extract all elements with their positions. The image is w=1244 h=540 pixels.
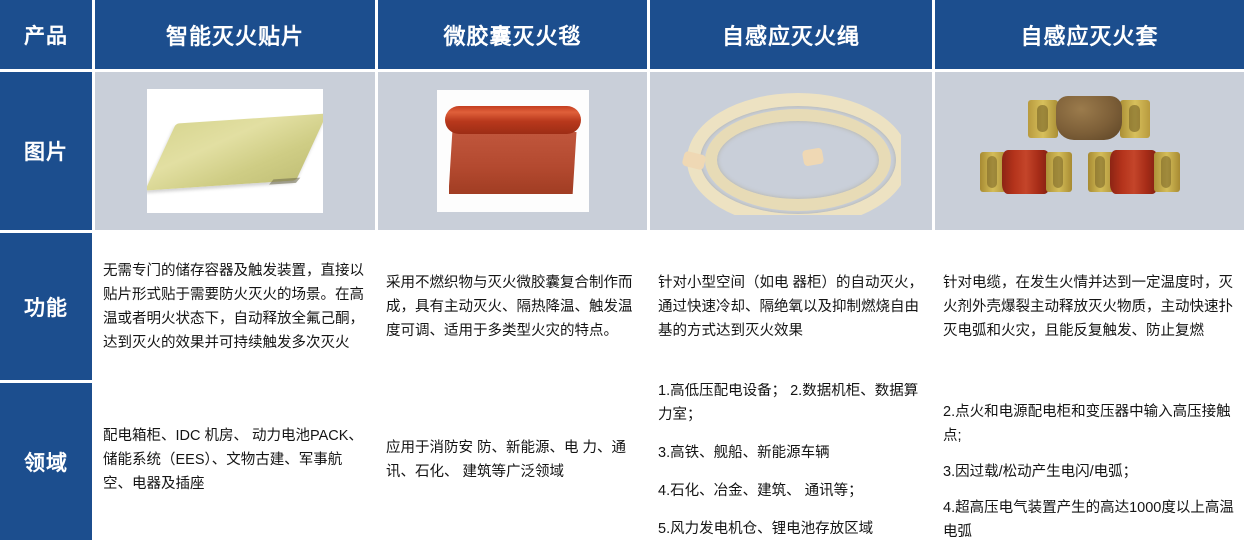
- rope-end-right: [802, 147, 824, 166]
- list-item: 4.石化、冶金、建筑、 通讯等；: [658, 479, 924, 503]
- list-item: 1.高低压配电设备； 2.数据机柜、数据算力室；: [658, 383, 924, 427]
- area-cell-col4: 1.耦合隔离电路; 2.点火和电源配电柜和变压器中输入高压接触点; 3.因过载/…: [935, 383, 1244, 540]
- row-label-picture: 图片: [0, 72, 95, 233]
- area-col2-text: 应用于消防安 防、新能源、电 力、通讯、石化、 建筑等广泛领域: [386, 436, 639, 484]
- patch-shape: [147, 113, 323, 190]
- blanket-sheet-shape: [449, 132, 577, 194]
- header-cell-product: 产品: [0, 0, 95, 72]
- yellow-extinguishing-patch-photo: [147, 89, 323, 213]
- picture-cell-col1: [95, 72, 378, 233]
- cable-fire-suppression-clamp-set-photo: [976, 90, 1204, 212]
- rope-inner-coil: [705, 109, 891, 211]
- area-cell-col2: 应用于消防安 防、新能源、电 力、通讯、石化、 建筑等广泛领域: [378, 383, 650, 540]
- header-cell-col3: 自感应灭火绳: [650, 0, 935, 72]
- function-cell-col4: 针对电缆，在发生火情并达到一定温度时，灭火剂外壳爆裂主动释放灭火物质，主动快速扑…: [935, 233, 1244, 383]
- header-cell-col2: 微胶囊灭火毯: [378, 0, 650, 72]
- area-cell-col1: 配电箱柜、IDC 机房、 动力电池PACK、储能系统（EES）、文物古建、军事航…: [95, 383, 378, 540]
- clamp-bracket-right: [1120, 100, 1150, 138]
- coiled-fire-suppression-rope-photo: [681, 87, 901, 215]
- list-item: 5.风力发电机仓、锂电池存放区域: [658, 517, 924, 540]
- clamp-half-right: [1088, 150, 1180, 194]
- area-col1-text: 配电箱柜、IDC 机房、 动力电池PACK、储能系统（EES）、文物古建、军事航…: [103, 424, 367, 496]
- row-label-function: 功能: [0, 233, 95, 383]
- header-cell-col4: 自感应灭火套: [935, 0, 1244, 72]
- product-comparison-table: 产品 智能灭火贴片 微胶囊灭火毯 自感应灭火绳 自感应灭火套 图片: [0, 0, 1244, 540]
- picture-cell-col2: [378, 72, 650, 233]
- function-cell-col1: 无需专门的储存容器及触发装置，直接以贴片形式贴于需要防火灭火的场景。在高温或者明…: [95, 233, 378, 383]
- list-item: 3.因过载/松动产生电闪/电弧；: [943, 460, 1236, 484]
- clamp-bracket-left: [1028, 100, 1058, 138]
- clamp-half-left: [980, 150, 1072, 194]
- clamp-body: [1056, 96, 1122, 140]
- header-cell-col1: 智能灭火贴片: [95, 0, 378, 72]
- blanket-roll-shape: [445, 106, 581, 134]
- picture-cell-col4: [935, 72, 1244, 233]
- list-item: 3.高铁、舰船、新能源车辆: [658, 441, 924, 465]
- list-item: 4.超高压电气装置产生的高达1000度以上高温电弧: [943, 496, 1236, 540]
- function-cell-col3: 针对小型空间（如电 器柜）的自动灭火，通过快速冷却、隔绝氧以及抑制燃烧自由基的方…: [650, 233, 935, 383]
- list-item: 2.点火和电源配电柜和变压器中输入高压接触点;: [943, 400, 1236, 448]
- function-cell-col2: 采用不燃织物与灭火微胶囊复合制作而成，具有主动灭火、隔热降温、触发温度可调、适用…: [378, 233, 650, 383]
- row-label-area: 领域: [0, 383, 95, 540]
- picture-cell-col3: [650, 72, 935, 233]
- red-microcapsule-fire-blanket-roll-photo: [437, 90, 589, 212]
- list-item: 1.耦合隔离电路;: [943, 383, 1236, 388]
- area-cell-col3: 1.高低压配电设备； 2.数据机柜、数据算力室； 3.高铁、舰船、新能源车辆 4…: [650, 383, 935, 540]
